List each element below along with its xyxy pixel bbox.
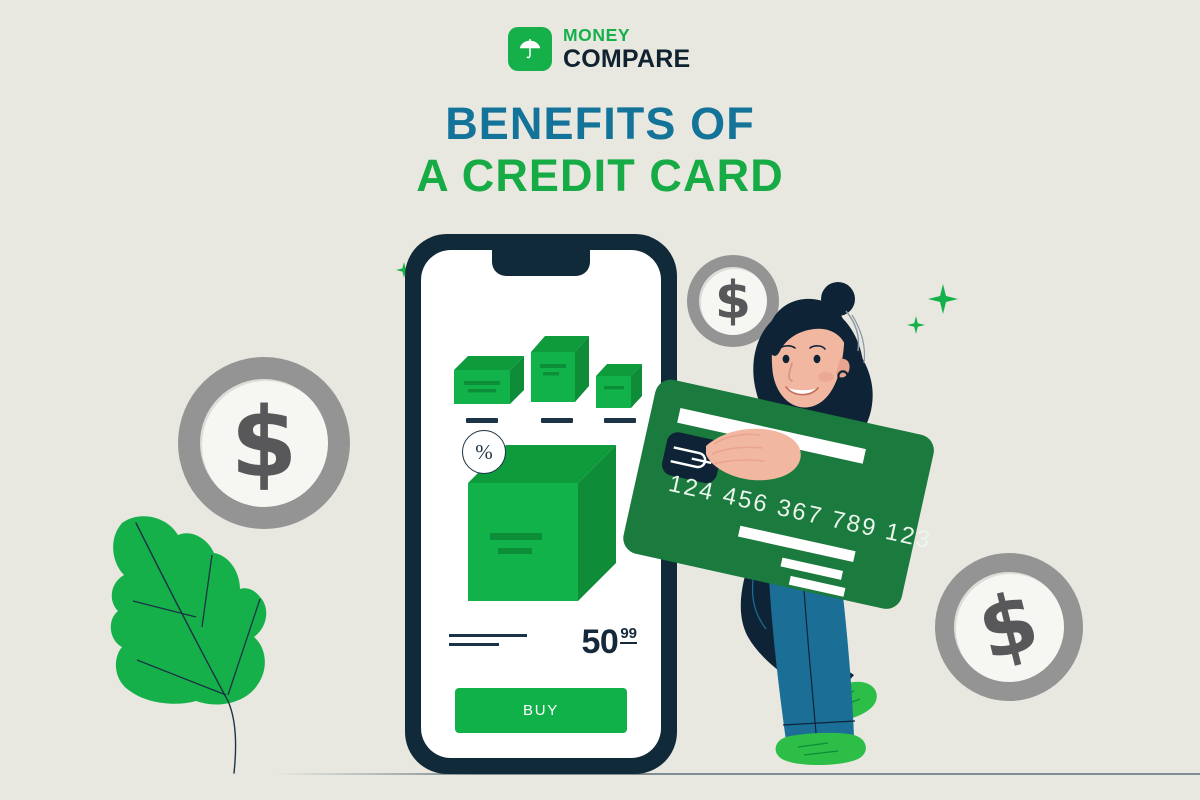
front-shoe (776, 733, 866, 765)
hand-on-card (700, 418, 840, 498)
headline-line-1: BENEFITS OF (0, 98, 1200, 150)
phone-screen[interactable]: % 50 99 BUY (421, 250, 661, 758)
product-label-dash (604, 418, 636, 423)
product-box-wide-icon[interactable] (454, 356, 524, 408)
eye-right (814, 355, 821, 363)
price-placeholder-line (449, 634, 527, 637)
brand-word-compare: COMPARE (563, 47, 690, 72)
product-label-dash (541, 418, 573, 423)
price-value: 50 99 (581, 625, 637, 659)
eye-left (783, 355, 790, 363)
price-cents: 99 (620, 626, 637, 644)
price-placeholder-line (449, 643, 499, 646)
brand-wordmark: MONEY COMPARE (563, 27, 690, 72)
product-label-dash (466, 418, 498, 423)
illustration-canvas: MONEY COMPARE BENEFITS OF A CREDIT CARD … (0, 0, 1200, 800)
umbrella-icon (508, 27, 552, 71)
brand-word-money: MONEY (563, 27, 690, 45)
product-box-tall-icon[interactable] (531, 336, 589, 408)
headline-line-2: A CREDIT CARD (0, 150, 1200, 202)
oak-leaf-icon (104, 505, 294, 790)
product-box-small-icon[interactable] (596, 364, 642, 410)
price-amount: 50 (581, 625, 618, 659)
percent-symbol: % (475, 442, 493, 463)
phone-notch (492, 250, 590, 276)
dollar-sign-icon: $ (231, 395, 298, 491)
coin-face: $ (200, 379, 328, 507)
discount-percent-badge[interactable]: % (462, 430, 506, 474)
price-row: 50 99 (421, 625, 661, 661)
brand-logo[interactable]: MONEY COMPARE (508, 27, 690, 72)
coin-dollar-left: $ (178, 357, 350, 529)
page-title: BENEFITS OF A CREDIT CARD (0, 98, 1200, 202)
buy-button[interactable]: BUY (455, 688, 627, 733)
product-thumbnail-row (421, 330, 661, 425)
